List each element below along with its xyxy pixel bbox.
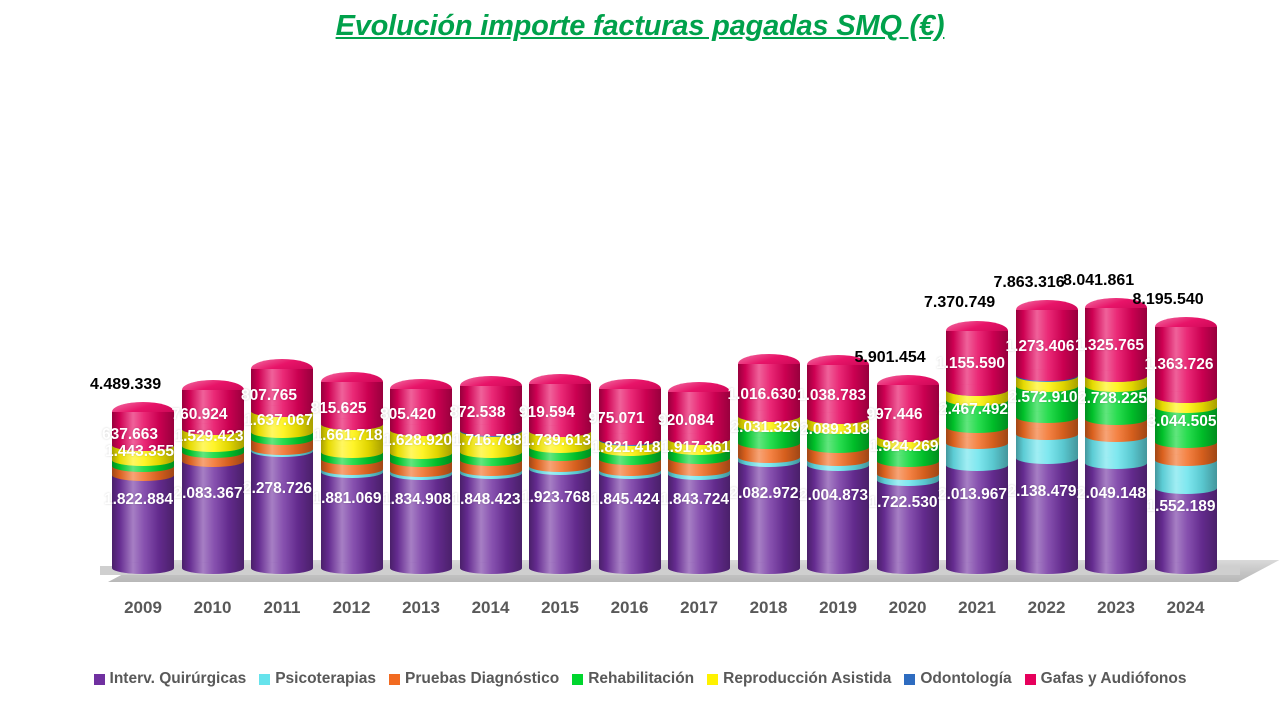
x-tick-2017: 2017 <box>660 598 738 618</box>
page-title: Evolución importe facturas pagadas SMQ (… <box>0 10 1280 43</box>
segment-bottom-ellipse <box>946 562 1008 574</box>
segment-bottom-ellipse <box>390 562 452 574</box>
segment-bottom-ellipse <box>1155 454 1217 466</box>
segment-bottom-ellipse <box>321 446 383 458</box>
data-label-psicoterapias-2013: 1.628.920 <box>383 432 452 450</box>
data-label-interv-quirurgicas-2011: 2.278.726 <box>243 480 312 498</box>
data-label-gafas-audiofonos-2014: 872.538 <box>450 404 506 422</box>
total-label-2021: 7.370.749 <box>924 294 995 312</box>
legend-label: Gafas y Audiófonos <box>1041 670 1187 688</box>
legend-label: Psicoterapias <box>275 670 376 688</box>
data-label-interv-quirurgicas-2014: 1.848.423 <box>452 491 521 509</box>
legend: Interv. QuirúrgicasPsicoterapiasPruebas … <box>0 670 1280 688</box>
legend-swatch-icon <box>707 674 718 685</box>
segment-bottom-ellipse <box>877 468 939 480</box>
data-label-gafas-audiofonos-2020: 997.446 <box>867 406 923 424</box>
x-tick-2009: 2009 <box>104 598 182 618</box>
bar-segment-interv-quir-rgicas[interactable] <box>668 474 730 568</box>
segment-bottom-ellipse <box>877 562 939 574</box>
data-label-psicoterapias-2019: 2.089.318 <box>800 421 869 439</box>
data-label-psicoterapias-2015: 1.739.613 <box>522 432 591 450</box>
data-label-psicoterapias-2010: 1.529.423 <box>175 428 244 446</box>
data-label-psicoterapias-2018: 2.031.329 <box>731 419 800 437</box>
total-label-2022: 7.863.316 <box>994 274 1065 292</box>
data-label-psicoterapias-2021: 2.467.492 <box>939 401 1008 419</box>
data-label-gafas-audiofonos-2023: 1.325.765 <box>1075 337 1144 355</box>
data-label-interv-quirurgicas-2013: 1.834.908 <box>382 491 451 509</box>
data-label-interv-quirurgicas-2015: 1.923.768 <box>521 489 590 507</box>
x-tick-2010: 2010 <box>174 598 252 618</box>
data-label-psicoterapias-2020: 1.924.269 <box>870 438 939 456</box>
data-label-psicoterapias-2017: 1.917.361 <box>661 439 730 457</box>
data-label-gafas-audiofonos-2015: 919.594 <box>519 404 575 422</box>
segment-bottom-ellipse <box>1085 562 1147 574</box>
segment-bottom-ellipse <box>668 562 730 574</box>
x-tick-2016: 2016 <box>591 598 669 618</box>
segment-bottom-ellipse <box>251 562 313 574</box>
data-label-psicoterapias-2023: 2.728.225 <box>1078 390 1147 408</box>
data-label-psicoterapias-2009: 1.443.355 <box>105 443 174 461</box>
legend-label: Pruebas Diagnóstico <box>405 670 559 688</box>
data-label-gafas-audiofonos-2013: 805.420 <box>380 406 436 424</box>
data-label-psicoterapias-2011: 1.637.067 <box>244 412 313 430</box>
segment-bottom-ellipse <box>946 384 1008 396</box>
bar-segment-interv-quir-rgicas[interactable] <box>738 461 800 568</box>
x-tick-2024: 2024 <box>1147 598 1225 618</box>
segment-bottom-ellipse <box>529 562 591 574</box>
chart-canvas: Evolución importe facturas pagadas SMQ (… <box>0 0 1280 720</box>
data-label-gafas-audiofonos-2010: 760.924 <box>172 406 228 424</box>
data-label-psicoterapias-2014: 1.716.788 <box>453 432 522 450</box>
x-tick-2023: 2023 <box>1077 598 1155 618</box>
data-label-interv-quirurgicas-2009: 1.822.884 <box>104 491 173 509</box>
x-tick-2022: 2022 <box>1008 598 1086 618</box>
segment-bottom-ellipse <box>460 562 522 574</box>
total-label-2020: 5.901.454 <box>855 349 926 367</box>
bar-segment-interv-quir-rgicas[interactable] <box>182 461 244 568</box>
data-label-gafas-audiofonos-2019: 1.038.783 <box>797 387 866 405</box>
data-label-gafas-audiofonos-2021: 1.155.590 <box>936 355 1005 373</box>
data-label-gafas-audiofonos-2009: 637.663 <box>102 426 158 444</box>
legend-swatch-icon <box>389 674 400 685</box>
data-label-gafas-audiofonos-2012: 815.625 <box>311 400 367 418</box>
data-label-interv-quirurgicas-2023: 2.049.148 <box>1077 485 1146 503</box>
total-label-2023: 8.041.861 <box>1063 272 1134 290</box>
x-tick-2012: 2012 <box>313 598 391 618</box>
total-label-2009: 4.489.339 <box>90 376 161 394</box>
data-label-psicoterapias-2022: 2.572.910 <box>1009 389 1078 407</box>
data-label-psicoterapias-2012: 1.661.718 <box>314 427 383 445</box>
data-label-interv-quirurgicas-2016: 1.845.424 <box>591 491 660 509</box>
data-label-interv-quirurgicas-2012: 1.881.069 <box>313 490 382 508</box>
segment-bottom-ellipse <box>321 562 383 574</box>
data-label-interv-quirurgicas-2017: 1.843.724 <box>660 491 729 509</box>
segment-bottom-ellipse <box>1016 562 1078 574</box>
x-tick-2018: 2018 <box>730 598 808 618</box>
bar-segment-interv-quir-rgicas[interactable] <box>1016 458 1078 568</box>
legend-item-pruebas-diagn-stico[interactable]: Pruebas Diagnóstico <box>389 670 559 688</box>
bar-segment-interv-quir-rgicas[interactable] <box>321 472 383 568</box>
legend-label: Interv. Quirúrgicas <box>110 670 247 688</box>
legend-item-gafas-y-audi-fonos[interactable]: Gafas y Audiófonos <box>1025 670 1187 688</box>
x-tick-2015: 2015 <box>521 598 599 618</box>
segment-bottom-ellipse <box>946 459 1008 471</box>
legend-item-rehabilitaci-n[interactable]: Rehabilitación <box>572 670 694 688</box>
bar-segment-interv-quir-rgicas[interactable] <box>390 474 452 568</box>
data-label-gafas-audiofonos-2018: 1.016.630 <box>728 386 797 404</box>
data-label-psicoterapias-2016: 1.821.418 <box>592 439 661 457</box>
segment-bottom-ellipse <box>182 562 244 574</box>
legend-item-odontolog-a[interactable]: Odontología <box>904 670 1011 688</box>
segment-bottom-ellipse <box>738 451 800 463</box>
data-label-interv-quirurgicas-2021: 2.013.967 <box>938 486 1007 504</box>
plot-area: 1.822.8841.443.355637.6634.489.3392.083.… <box>0 60 1280 590</box>
legend-swatch-icon <box>259 674 270 685</box>
data-label-gafas-audiofonos-2016: 975.071 <box>589 410 645 428</box>
legend-swatch-icon <box>572 674 583 685</box>
bar-segment-interv-quir-rgicas[interactable] <box>460 473 522 568</box>
x-tick-2011: 2011 <box>243 598 321 618</box>
legend-label: Reproducción Asistida <box>723 670 891 688</box>
total-label-2024: 8.195.540 <box>1133 291 1204 309</box>
legend-item-psicoterapias[interactable]: Psicoterapias <box>259 670 376 688</box>
data-label-psicoterapias-2024: 3.044.505 <box>1148 413 1217 431</box>
data-label-gafas-audiofonos-2017: 920.084 <box>658 412 714 430</box>
segment-bottom-ellipse <box>1155 562 1217 574</box>
bar-segment-interv-quir-rgicas[interactable] <box>251 451 313 568</box>
segment-bottom-ellipse <box>946 437 1008 449</box>
legend-label: Odontología <box>920 670 1011 688</box>
legend-item-reproducci-n-asistida[interactable]: Reproducción Asistida <box>707 670 891 688</box>
x-tick-2013: 2013 <box>382 598 460 618</box>
data-label-interv-quirurgicas-2019: 2.004.873 <box>799 487 868 505</box>
segment-bottom-ellipse <box>807 441 869 453</box>
x-tick-2021: 2021 <box>938 598 1016 618</box>
legend-swatch-icon <box>94 674 105 685</box>
x-tick-2020: 2020 <box>869 598 947 618</box>
segment-bottom-ellipse <box>1155 391 1217 403</box>
legend-label: Rehabilitación <box>588 670 694 688</box>
bar-segment-interv-quir-rgicas[interactable] <box>807 465 869 568</box>
legend-swatch-icon <box>1025 674 1036 685</box>
data-label-gafas-audiofonos-2011: 807.765 <box>241 387 297 405</box>
segment-bottom-ellipse <box>807 562 869 574</box>
bar-segment-interv-quir-rgicas[interactable] <box>599 473 661 568</box>
segment-bottom-ellipse <box>112 562 174 574</box>
data-label-interv-quirurgicas-2020: 1.722.530 <box>869 494 938 512</box>
bar-segment-interv-quir-rgicas[interactable] <box>529 469 591 568</box>
segment-bottom-ellipse <box>1016 428 1078 440</box>
bar-segment-interv-quir-rgicas[interactable] <box>946 465 1008 568</box>
bar-segment-interv-quir-rgicas[interactable] <box>112 475 174 568</box>
legend-item-interv-quir-rgicas[interactable]: Interv. Quirúrgicas <box>94 670 247 688</box>
segment-bottom-ellipse <box>1085 457 1147 469</box>
data-label-gafas-audiofonos-2024: 1.363.726 <box>1145 356 1214 374</box>
segment-bottom-ellipse <box>599 562 661 574</box>
x-tick-2014: 2014 <box>452 598 530 618</box>
legend-swatch-icon <box>904 674 915 685</box>
data-label-gafas-audiofonos-2022: 1.273.406 <box>1006 338 1075 356</box>
x-tick-2019: 2019 <box>799 598 877 618</box>
segment-bottom-ellipse <box>738 562 800 574</box>
data-label-interv-quirurgicas-2018: 2.082.972 <box>730 485 799 503</box>
x-axis-tick-labels: 2009201020112012201320142015201620172018… <box>0 598 1280 628</box>
data-label-interv-quirurgicas-2024: 1.552.189 <box>1147 498 1216 516</box>
data-label-interv-quirurgicas-2022: 2.138.479 <box>1008 483 1077 501</box>
bar-segment-interv-quir-rgicas[interactable] <box>1085 463 1147 568</box>
data-label-interv-quirurgicas-2010: 2.083.367 <box>174 485 243 503</box>
